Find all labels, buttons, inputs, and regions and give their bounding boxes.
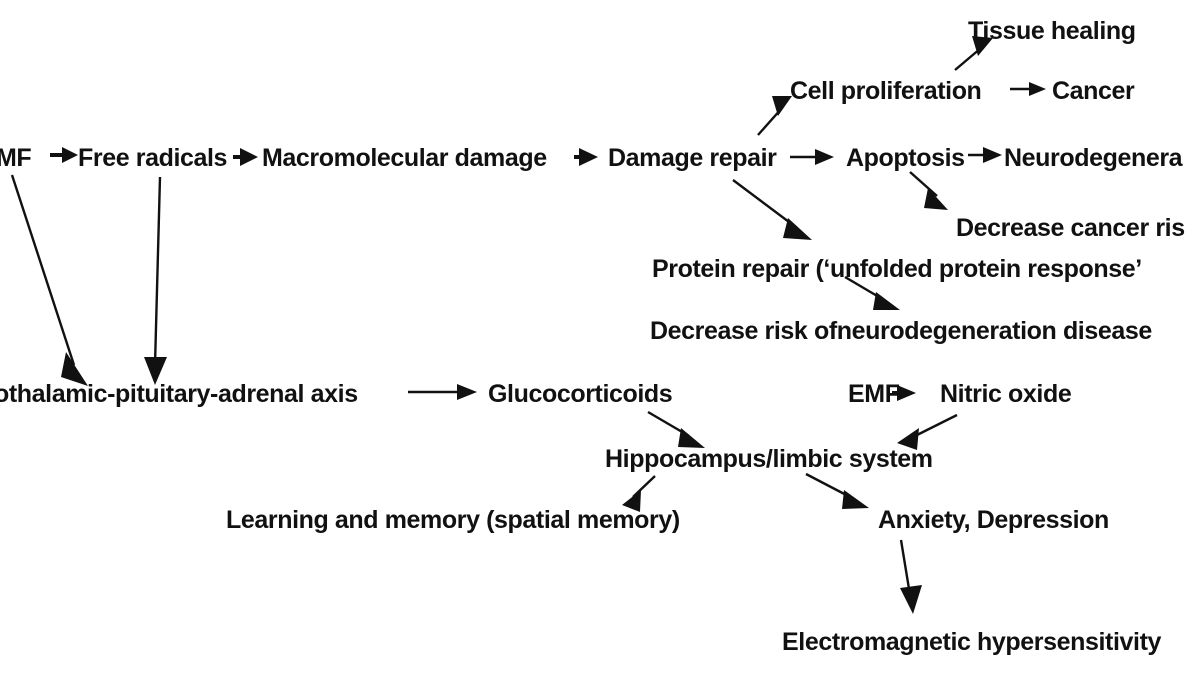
edge-damage-repair-to-cell-proliferation xyxy=(758,96,792,135)
node-hpa-axis: othalamic-pituitary-adrenal axis xyxy=(0,380,358,408)
node-cancer: Cancer xyxy=(1052,77,1135,105)
node-hippocampus: Hippocampus/limbic system xyxy=(605,445,933,473)
node-macromolecular-damage: Macromolecular damage xyxy=(262,144,547,172)
edge-emf-to-free-radicals xyxy=(50,147,78,163)
edge-hpa-axis-to-glucocorticoids xyxy=(408,384,477,400)
edge-glucocorticoids-to-hippocampus xyxy=(648,412,705,448)
node-nitric-oxide: Nitric oxide xyxy=(940,380,1072,408)
node-decrease-risk-neurodegeneration: Decrease risk ofneurodegeneration diseas… xyxy=(650,317,1152,345)
node-learning-memory: Learning and memory (spatial memory) xyxy=(226,506,680,534)
node-emf-lower: EMF xyxy=(848,380,900,408)
edge-hippocampus-to-anxiety-depression xyxy=(806,474,869,509)
node-tissue-healing: Tissue healing xyxy=(968,17,1136,45)
edge-emf-to-hpa-axis xyxy=(12,175,88,386)
edge-damage-repair-to-protein-repair xyxy=(733,180,812,240)
node-decrease-cancer-risk: Decrease cancer ris xyxy=(956,214,1185,242)
edge-damage-repair-to-apoptosis xyxy=(790,149,834,165)
edge-apoptosis-to-neurodegeneration xyxy=(968,147,1002,163)
flowchart-canvas: MF Free radicals Macromolecular damage D… xyxy=(0,0,1200,675)
flowchart-diagram: MF Free radicals Macromolecular damage D… xyxy=(0,0,1200,675)
node-damage-repair: Damage repair xyxy=(608,144,777,172)
node-apoptosis: Apoptosis xyxy=(846,144,965,172)
node-glucocorticoids: Glucocorticoids xyxy=(488,380,672,408)
edge-apoptosis-to-decrease-cancer-risk xyxy=(910,172,948,210)
edge-free-radicals-to-macromolecular-damage xyxy=(233,148,258,166)
node-neurodegeneration: Neurodegenera xyxy=(1004,144,1184,172)
edge-cell-proliferation-to-cancer xyxy=(1010,82,1046,96)
node-anxiety-depression: Anxiety, Depression xyxy=(878,506,1109,534)
edge-macromolecular-damage-to-damage-repair xyxy=(574,148,598,166)
node-cell-proliferation: Cell proliferation xyxy=(790,77,981,105)
edge-free-radicals-to-hpa-axis xyxy=(144,177,167,385)
edge-anxiety-depression-to-ehs xyxy=(900,540,922,614)
node-protein-repair: Protein repair (‘unfolded protein respon… xyxy=(652,255,1142,283)
node-free-radicals: Free radicals xyxy=(78,144,227,172)
node-emf-top: MF xyxy=(0,144,31,172)
node-electromagnetic-hypersensitivity: Electromagnetic hypersensitivity xyxy=(782,628,1162,656)
